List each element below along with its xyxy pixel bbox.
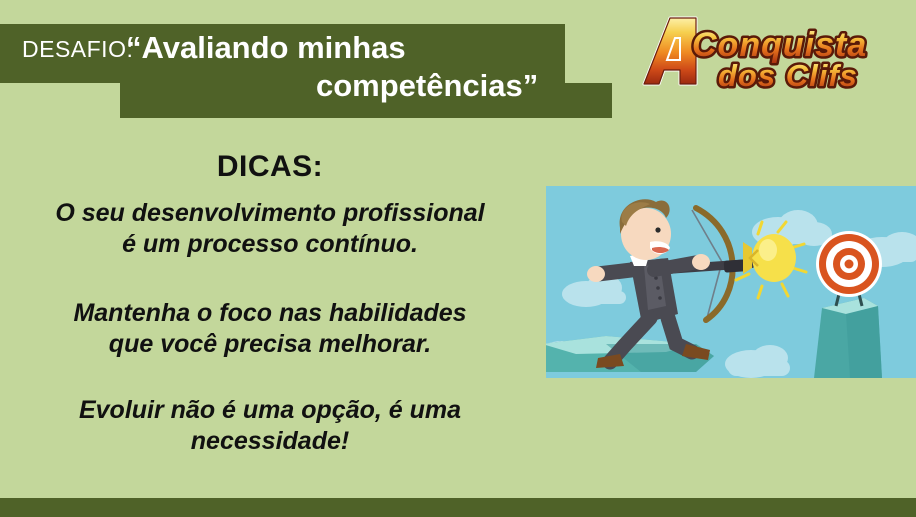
challenge-title-line-2: competências” — [316, 69, 538, 103]
desafio-label: DESAFIO: — [22, 38, 133, 61]
right-cliff — [814, 298, 882, 378]
tip-paragraph-3: Evoluir não é uma opção, é uma necessida… — [0, 395, 540, 456]
svg-text:dos Clifs: dos Clifs — [718, 58, 858, 93]
target-bullseye — [816, 231, 882, 297]
tip-2-line-2: que você precisa melhorar. — [0, 329, 540, 360]
eye — [655, 227, 660, 232]
tip-2-line-1: Mantenha o foco nas habilidades — [0, 298, 540, 329]
logo-a-conquista-dos-clifs: Conquista Conquista dos Clifs dos Clifs — [626, 8, 906, 96]
header-text-group: DESAFIO: “Avaliando minhas competências” — [0, 24, 600, 118]
front-arm — [654, 262, 698, 270]
footer-bar — [0, 498, 916, 517]
challenge-title-line-1: “Avaliando minhas — [126, 31, 406, 65]
tip-1-line-2: é um processo contínuo. — [0, 229, 540, 260]
back-hand — [587, 266, 605, 282]
slide-canvas: DESAFIO: “Avaliando minhas competências” — [0, 0, 916, 517]
tip-paragraph-2: Mantenha o foco nas habilidades que você… — [0, 298, 540, 359]
tip-3-line-1: Evoluir não é uma opção, é uma — [0, 395, 540, 426]
tip-1-line-1: O seu desenvolvimento profissional — [0, 198, 540, 229]
tip-3-line-2: necessidade! — [0, 426, 540, 457]
tip-paragraph-1: O seu desenvolvimento profissional é um … — [0, 198, 540, 259]
logo-letter-a-shape — [644, 18, 696, 84]
front-hand — [692, 254, 710, 270]
logo-word-dos-clifs: dos Clifs dos Clifs — [718, 58, 858, 93]
dicas-heading: DICAS: — [0, 150, 540, 184]
archer-illustration — [546, 186, 916, 378]
